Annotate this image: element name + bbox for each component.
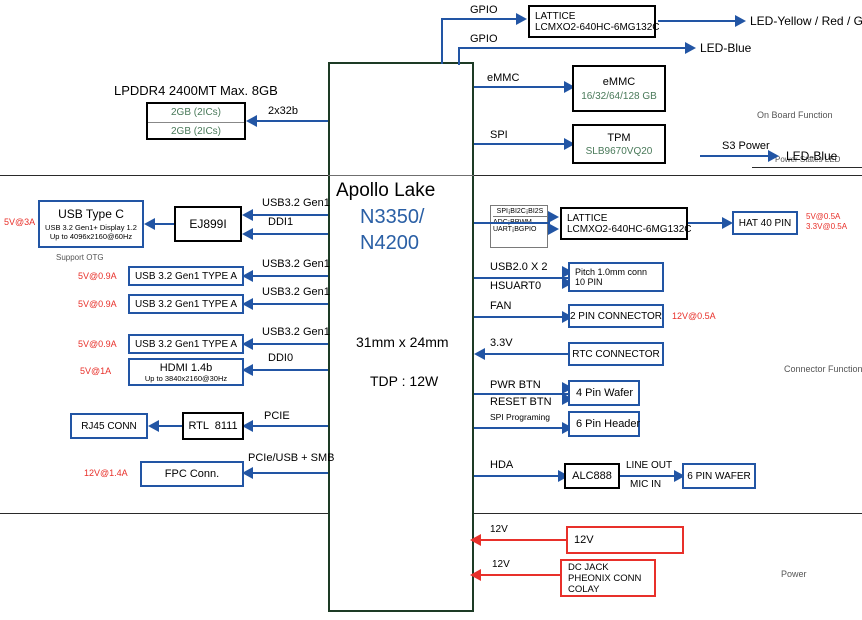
soc-tdp: TDP : 12W	[370, 373, 438, 389]
spi-tpm-wire	[474, 143, 570, 145]
alc888-box: ALC888	[564, 463, 620, 489]
usb-type-c-box: USB Type C USB 3.2 Gen1+ Display 1.2 Up …	[38, 200, 144, 248]
fan-conn-box: 2 PIN CONNECTOR	[568, 304, 664, 328]
tpm-box: TPM SLB9670VQ20	[572, 124, 666, 164]
io-tags-line3: UART¡BGPIO	[493, 226, 536, 233]
usb-a3-box: USB 3.2 Gen1 TYPE A	[128, 334, 244, 354]
alc888-to-wafer-wire	[620, 475, 680, 477]
hdmi-title: HDMI 1.4b	[160, 362, 213, 374]
usb-a1-wire	[250, 275, 328, 277]
divider-power-states-led	[752, 167, 862, 168]
soc-model-line1: N3350/	[360, 206, 425, 229]
rj45-box: RJ45 CONN	[70, 413, 148, 439]
usb20-wire	[474, 277, 570, 279]
hdmi-capability: Up to 3840x2160@30Hz	[145, 374, 227, 383]
ej899i-to-typec-wire	[152, 223, 174, 225]
spi-programing-label: SPI Programing	[490, 412, 550, 422]
label-power: Power	[781, 569, 807, 579]
usb-a1-label: USB 3.2 Gen1 TYPE A	[135, 271, 237, 282]
ddi1-wire	[250, 233, 328, 235]
gpio2-label: GPIO	[470, 33, 498, 45]
dc-jack-line2: PHEONIX CONN	[568, 573, 641, 584]
hdmi-box: HDMI 1.4b Up to 3840x2160@30Hz	[128, 358, 244, 386]
wafer6-label: 6 PIN WAFER	[687, 471, 751, 482]
rtl8111-box: RTL 8111	[182, 412, 244, 440]
spi-prog-wire	[474, 427, 570, 429]
header6-box: 6 Pin Header	[568, 411, 640, 437]
usb20-label: USB2.0 X 2	[490, 261, 547, 273]
lattice-top-box: LATTICE LCMXO2-640HC-6MG132C	[528, 5, 656, 38]
mic-in-label: MIC IN	[630, 479, 661, 490]
fan-conn-label: 2 PIN CONNECTOR	[570, 311, 662, 322]
usb-type-c-spec2: Up to 4096x2160@60Hz	[50, 232, 132, 241]
gpio1-arrowhead	[516, 13, 527, 25]
pcie-wire	[250, 425, 328, 427]
soc-name: Apollo Lake	[336, 180, 435, 202]
led-blue-s3-label: LED-Blue	[786, 149, 837, 163]
rtc-conn-label: RTC CONNECTOR	[572, 349, 659, 360]
pwr-reset-wire	[474, 393, 570, 395]
memory-chip-a: 2GB (2ICs)	[148, 104, 244, 123]
lattice-to-hat40-wire	[688, 222, 726, 224]
rtc-arrowhead	[474, 348, 485, 360]
usb-type-c-power: 5V@3A	[4, 217, 35, 227]
memory-bus-arrowhead	[246, 115, 257, 127]
emmc-box: eMMC 16/32/64/128 GB	[572, 65, 666, 112]
usb-a2-power: 5V@0.9A	[78, 299, 117, 309]
usb-a2-label: USB 3.2 Gen1 TYPE A	[135, 299, 237, 310]
usb-a2-wire	[250, 303, 328, 305]
typec-arrowhead	[144, 218, 155, 230]
gpio1-wire-h	[441, 18, 521, 20]
fpc-bus-label: PCIe/USB + SMB	[248, 452, 335, 464]
fpc-wire	[250, 472, 328, 474]
memory-bus-wire	[254, 120, 328, 122]
emmc-bus-label: eMMC	[487, 72, 519, 84]
ej899i-box: EJ899I	[174, 206, 242, 242]
hat40-box: HAT 40 PIN	[732, 211, 798, 235]
power-12v-box-label: 12V	[574, 534, 594, 546]
io-tags-to-lattice-wire	[474, 222, 550, 224]
hdmi-power: 5V@1A	[80, 366, 111, 376]
usb3-label-2: USB3.2 Gen1	[262, 286, 330, 298]
led-blue-gpio-label: LED-Blue	[700, 41, 751, 55]
rj45-arrowhead	[148, 420, 159, 432]
usb3-label-3: USB3.2 Gen1	[262, 326, 330, 338]
usb-a3-label: USB 3.2 Gen1 TYPE A	[135, 339, 237, 350]
lattice2-arrowhead-b	[548, 223, 559, 235]
pwr-btn-label: PWR BTN	[490, 379, 541, 391]
gpio2-arrowhead	[685, 42, 696, 54]
rtc-wire	[482, 353, 570, 355]
hat40-power-2: 3.3V@0.5A	[806, 222, 847, 231]
led-rgb-label: LED-Yellow / Red / Green	[750, 14, 862, 28]
ddi1-arrowhead	[242, 228, 253, 240]
lattice-top-line1: LATTICE	[535, 11, 575, 22]
memory-box: 2GB (2ICs) 2GB (2ICs)	[146, 102, 246, 140]
label-on-board-function: On Board Function	[757, 110, 833, 120]
memory-chip-b: 2GB (2ICs)	[148, 123, 244, 140]
power-12v-wire-a	[480, 539, 568, 541]
fan-label: FAN	[490, 300, 511, 312]
gpio2-stub	[458, 47, 460, 65]
soc-model-line2: N4200	[360, 232, 419, 255]
v33-label: 3.3V	[490, 337, 513, 349]
power-12v-label-b: 12V	[492, 559, 510, 570]
usb3-typec-arrowhead	[242, 209, 253, 221]
usb3-label-1: USB3.2 Gen1	[262, 258, 330, 270]
spi-bus-label: SPI	[490, 129, 508, 141]
label-connector-function: Connector Function	[784, 364, 862, 374]
gpio-bus-vertical	[441, 18, 443, 64]
usb-a3-power: 5V@0.9A	[78, 339, 117, 349]
power-12v-arrowhead-b	[470, 569, 481, 581]
usb-a2-box: USB 3.2 Gen1 TYPE A	[128, 294, 244, 314]
lattice-to-led-rgb-wire	[658, 20, 740, 22]
hsuart0-label: HSUART0	[490, 280, 541, 292]
pitch-conn-box: Pitch 1.0mm conn 10 PIN	[568, 262, 664, 292]
hda-wire	[474, 475, 564, 477]
lattice2-arrowhead-a	[548, 211, 559, 223]
emmc-title: eMMC	[603, 76, 635, 88]
lattice-bottom-line1: LATTICE	[567, 213, 607, 224]
io-tags-line1: SPI¡BI2C¡BI2S	[493, 206, 547, 217]
tpm-title: TPM	[607, 132, 630, 144]
power-12v-label-a: 12V	[490, 524, 508, 535]
usb-a3-wire	[250, 343, 328, 345]
rtl-to-rj45-wire	[156, 425, 182, 427]
rj45-label: RJ45 CONN	[81, 421, 137, 432]
rtc-conn-box: RTC CONNECTOR	[568, 342, 664, 366]
emmc-capacity: 16/32/64/128 GB	[581, 91, 657, 102]
header6-label: 6 Pin Header	[576, 418, 640, 430]
tpm-part: SLB9670VQ20	[586, 146, 653, 157]
usb3-label-typec: USB3.2 Gen1	[262, 197, 330, 209]
power-12v-box: 12V	[566, 526, 684, 554]
memory-title: LPDDR4 2400MT Max. 8GB	[114, 83, 278, 98]
usb-a1-box: USB 3.2 Gen1 TYPE A	[128, 266, 244, 286]
emmc-wire	[474, 86, 570, 88]
dc-jack-line1: DC JACK	[568, 562, 609, 573]
soc-inner-divider	[328, 175, 474, 176]
fan-power: 12V@0.5A	[672, 311, 716, 321]
memory-bus-label: 2x32b	[268, 105, 298, 117]
pcie-label: PCIE	[264, 410, 290, 422]
s3-power-label: S3 Power	[722, 140, 770, 152]
fpc-power: 12V@1.4A	[84, 468, 128, 478]
usb-type-c-title: USB Type C	[58, 207, 124, 221]
lattice-top-line2: LCMXO2-640HC-6MG132C	[535, 22, 660, 33]
lattice-bottom-box: LATTICE LCMXO2-640HC-6MG132C	[560, 207, 688, 240]
reset-btn-label: RESET BTN	[490, 396, 552, 408]
hat40-label: HAT 40 PIN	[739, 218, 791, 229]
dc-jack-box: DC JACK PHEONIX CONN COLAY	[560, 559, 656, 597]
support-otg-label: Support OTG	[56, 253, 104, 262]
soc-dimensions: 31mm x 24mm	[356, 334, 449, 350]
hdmi-wire	[250, 369, 328, 371]
lattice-bottom-line2: LCMXO2-640HC-6MG132C	[567, 224, 692, 235]
usb-type-c-spec1: USB 3.2 Gen1+ Display 1.2	[45, 223, 137, 232]
fpc-box: FPC Conn.	[140, 461, 244, 487]
line-out-label: LINE OUT	[626, 460, 672, 471]
hda-label: HDA	[490, 459, 513, 471]
fpc-label: FPC Conn.	[165, 468, 219, 480]
hat40-power-1: 5V@0.5A	[806, 212, 840, 221]
ej899i-label: EJ899I	[189, 217, 226, 231]
rtl8111-label: RTL 8111	[188, 420, 237, 432]
alc888-label: ALC888	[572, 470, 612, 482]
dc-jack-line3: COLAY	[568, 584, 600, 595]
io-tags-box: SPI¡BI2C¡BI2S ADC¡BPWM UART¡BGPIO	[490, 205, 548, 248]
power-12v-arrowhead-a	[470, 534, 481, 546]
wafer4-label: 4 Pin Wafer	[576, 387, 633, 399]
fan-wire	[474, 316, 570, 318]
block-diagram-canvas: Apollo Lake N3350/ N4200 31mm x 24mm TDP…	[0, 0, 862, 620]
pitch-conn-line2: 10 PIN	[575, 277, 603, 287]
usb-a1-power: 5V@0.9A	[78, 271, 117, 281]
s3-power-wire	[700, 155, 772, 157]
pitch-conn-line1: Pitch 1.0mm conn	[575, 267, 647, 277]
ddi0-label: DDI0	[268, 352, 293, 364]
wafer4-box: 4 Pin Wafer	[568, 380, 640, 406]
led-rgb-arrowhead	[735, 15, 746, 27]
ddi1-label: DDI1	[268, 216, 293, 228]
power-12v-wire-b	[480, 574, 560, 576]
gpio1-label: GPIO	[470, 4, 498, 16]
wafer6-box: 6 PIN WAFER	[682, 463, 756, 489]
gpio2-wire-h	[458, 47, 690, 49]
